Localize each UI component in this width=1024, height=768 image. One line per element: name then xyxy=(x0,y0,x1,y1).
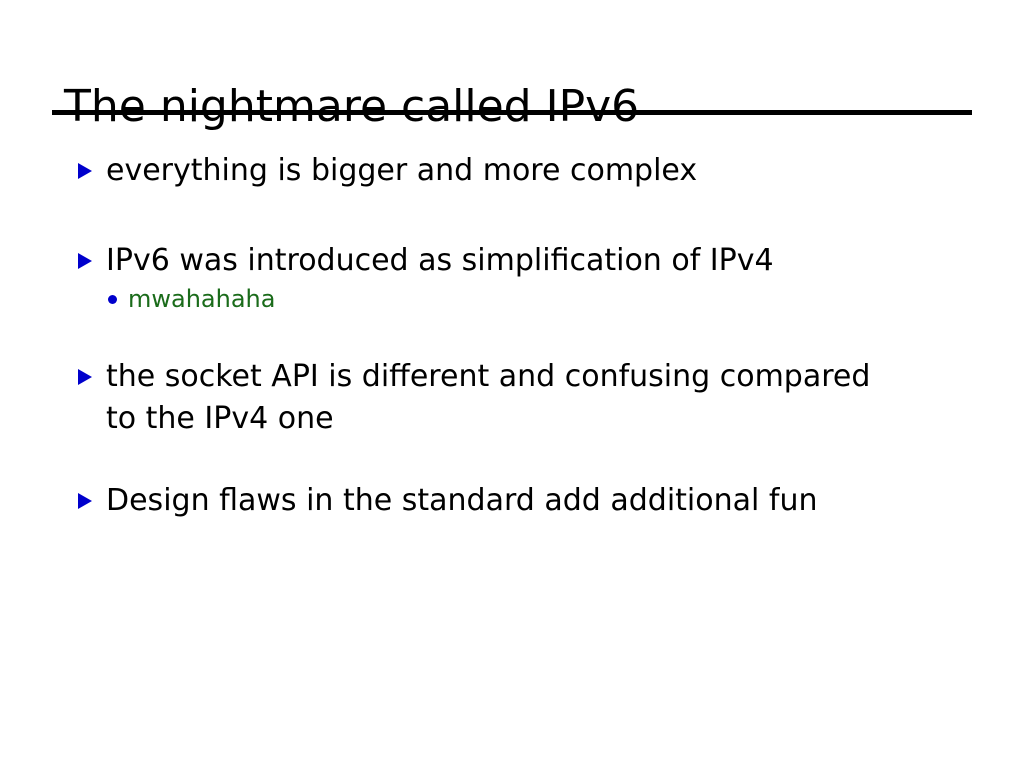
spacer xyxy=(0,192,1024,240)
bullet-item: the socket API is different and confusin… xyxy=(0,356,1024,440)
title-underline-rule xyxy=(52,110,972,115)
bullet-item: IPv6 was introduced as simplification of… xyxy=(0,240,1024,282)
sub-bullet-item: mwahahaha xyxy=(0,282,1024,316)
bullet-item: Design flaws in the standard add additio… xyxy=(0,480,1024,522)
sub-bullet-text: mwahahaha xyxy=(128,285,275,313)
slide-body: everything is bigger and more complex IP… xyxy=(0,150,1024,522)
bullet-text: everything is bigger and more complex xyxy=(106,150,906,192)
blue-triangle-marker xyxy=(78,163,92,179)
blue-triangle-marker xyxy=(78,369,92,385)
bullet-text: IPv6 was introduced as simplification of… xyxy=(106,240,906,282)
blue-triangle-marker xyxy=(78,253,92,269)
spacer xyxy=(0,316,1024,356)
presentation-slide: The nightmare called IPv6 everything is … xyxy=(0,0,1024,768)
bullet-item: everything is bigger and more complex xyxy=(0,150,1024,192)
bullet-text: Design flaws in the standard add additio… xyxy=(106,480,906,522)
slide-title: The nightmare called IPv6 xyxy=(64,81,984,133)
bullet-text: the socket API is different and confusin… xyxy=(106,356,906,440)
blue-dot-marker xyxy=(108,295,117,304)
blue-triangle-marker xyxy=(78,493,92,509)
spacer xyxy=(0,440,1024,480)
